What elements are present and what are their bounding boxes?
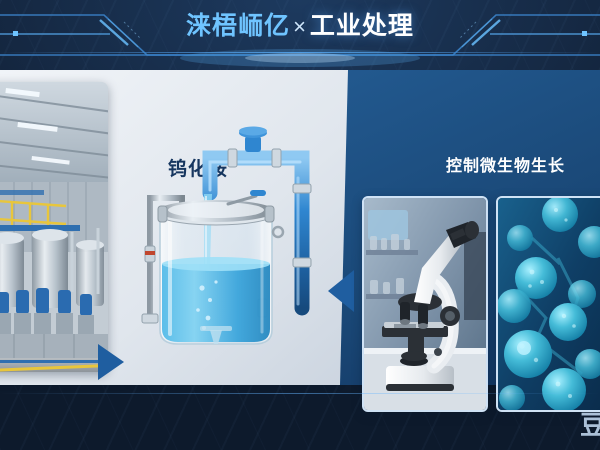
reactor-illustration <box>132 118 340 380</box>
footer-divider <box>0 393 600 394</box>
page-title-topic: 工业处理 <box>310 12 414 40</box>
flow-arrow-right <box>326 268 360 314</box>
microbes-photo-art <box>498 198 600 410</box>
page-title-separator: × <box>293 14 307 39</box>
page-title: 涞梧峏亿×工业处理 <box>0 11 600 42</box>
pipe-valve <box>239 127 267 153</box>
reactor-illustration-art <box>132 118 340 380</box>
factory-photo <box>0 82 108 372</box>
corner-clipped-text: 豆 <box>580 405 600 442</box>
microscope-photo-art <box>364 198 486 410</box>
slide-canvas: 涞梧峏亿×工业处理 <box>0 0 600 450</box>
slide-header: 涞梧峏亿×工业处理 <box>0 0 600 70</box>
right-section-title: 控制微生物生长 <box>446 152 565 176</box>
microbes-photo <box>496 196 600 412</box>
content-band: 钨化铵 <box>0 70 600 385</box>
microscope-photo <box>362 196 488 412</box>
factory-photo-art <box>0 82 108 372</box>
page-title-brand: 涞梧峏亿 <box>186 12 290 40</box>
